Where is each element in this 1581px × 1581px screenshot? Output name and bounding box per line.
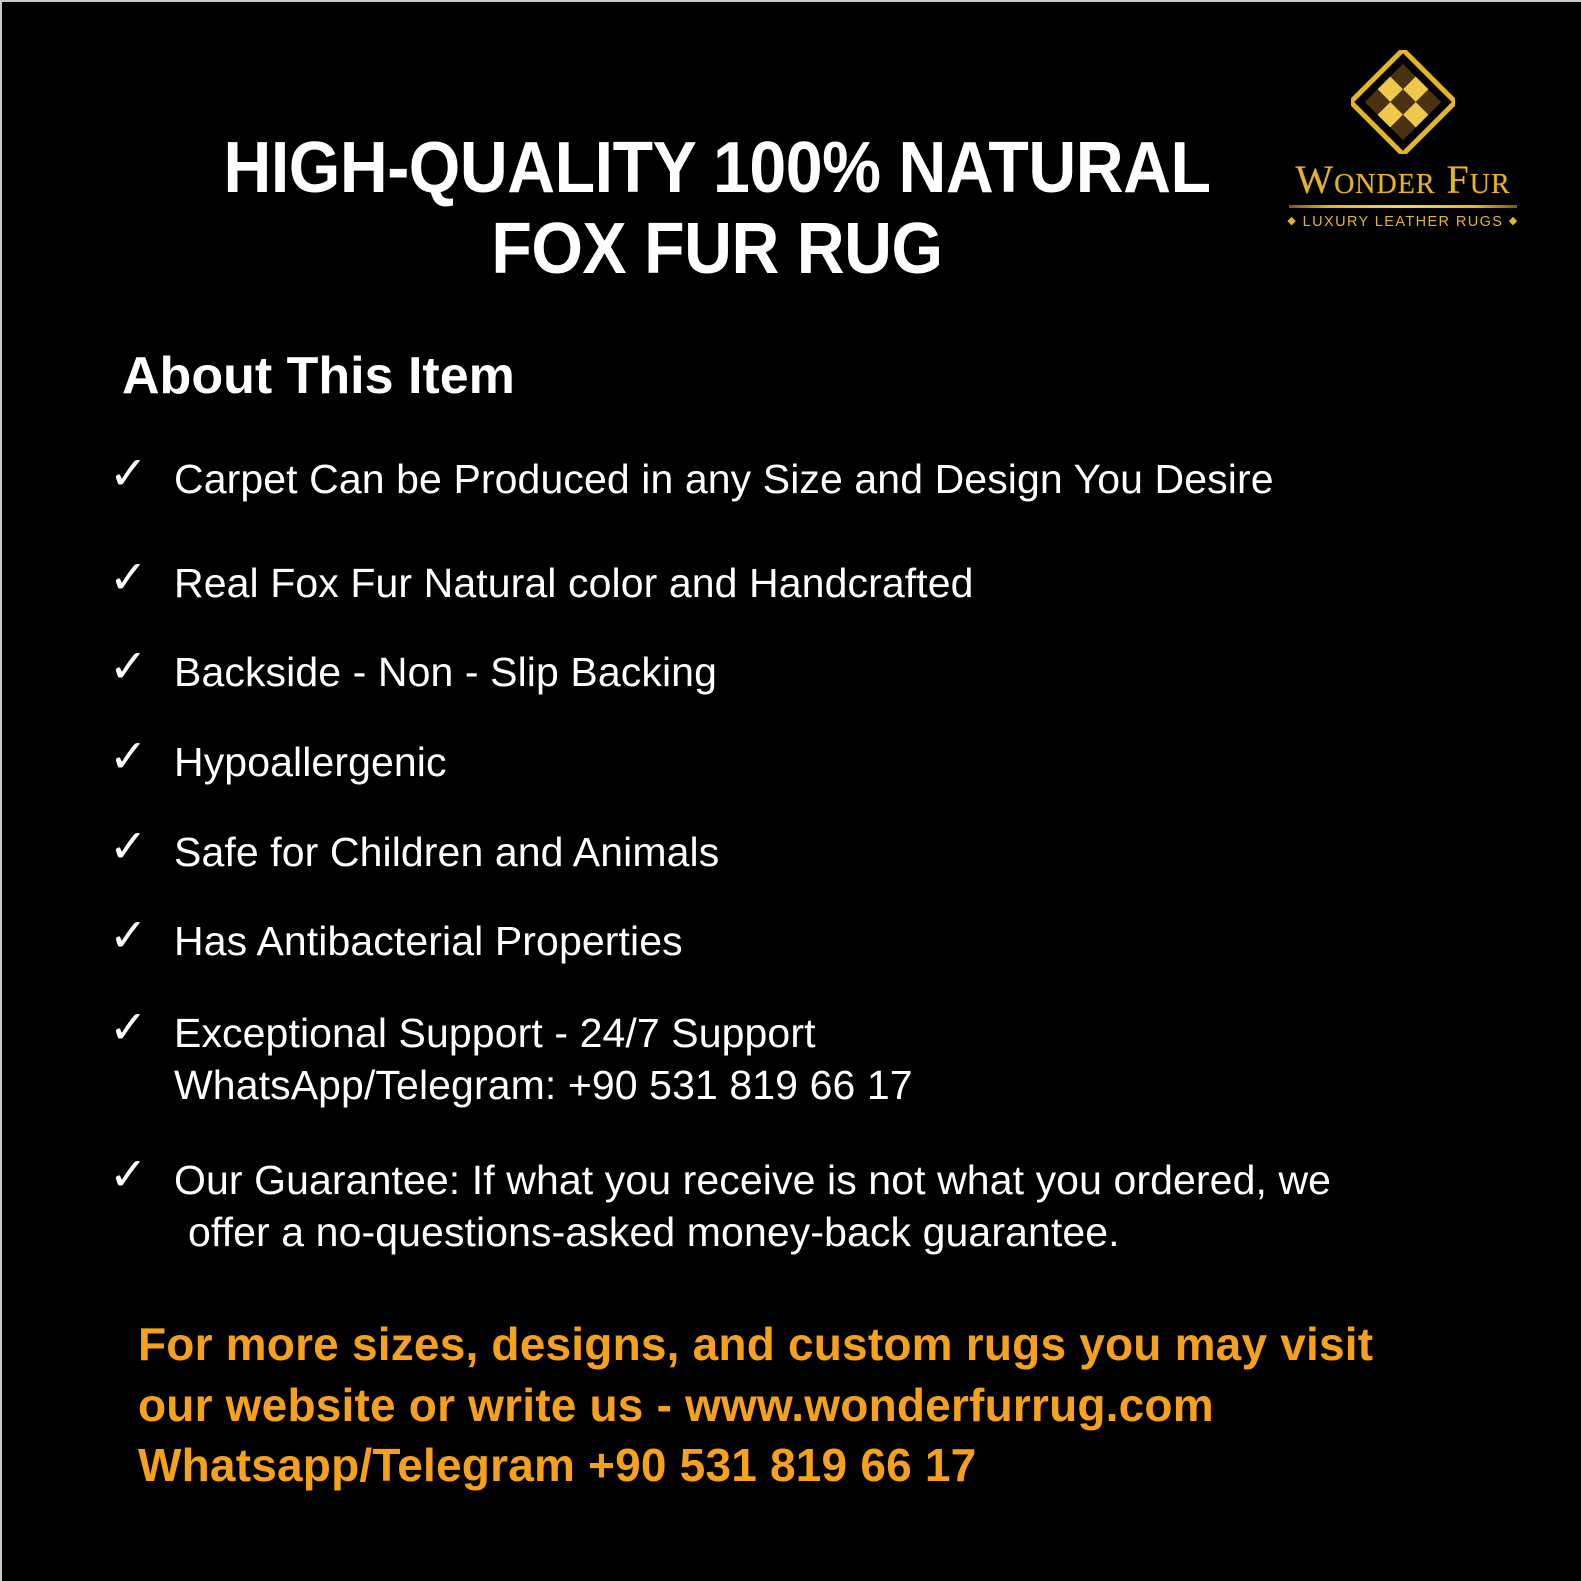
list-item-label-line-2: WhatsApp/Telegram: +90 531 819 66 17 xyxy=(174,1060,1506,1112)
check-icon: ✓ xyxy=(109,823,148,869)
footer-cta-line-1: For more sizes, designs, and custom rugs… xyxy=(138,1314,1518,1375)
list-item: ✓ Our Guarantee: If what you receive is … xyxy=(106,1155,1506,1258)
product-info-poster: Wonder Fur ◆ LUXURY LEATHER RUGS ◆ HIGH-… xyxy=(0,0,1581,1581)
list-item: ✓ Real Fox Fur Natural color and Handcra… xyxy=(106,558,1506,610)
list-item-label: Our Guarantee: If what you receive is no… xyxy=(174,1155,1506,1258)
list-item-label: Has Antibacterial Properties xyxy=(174,916,1506,968)
page-title-line-1: HIGH-QUALITY 100% NATURAL xyxy=(197,128,1237,209)
check-icon: ✓ xyxy=(109,643,148,689)
brand-logo: Wonder Fur ◆ LUXURY LEATHER RUGS ◆ xyxy=(1283,50,1523,230)
list-item: ✓ Safe for Children and Animals xyxy=(106,827,1506,879)
logo-tagline-text: LUXURY LEATHER RUGS xyxy=(1303,214,1504,230)
list-item-label: Real Fox Fur Natural color and Handcraft… xyxy=(174,558,1506,610)
logo-divider-rule xyxy=(1289,205,1517,208)
check-icon: ✓ xyxy=(109,1004,148,1050)
list-item: ✓ Hypoallergenic xyxy=(106,737,1506,789)
list-item: ✓ Exceptional Support - 24/7 Support Wha… xyxy=(106,1008,1506,1111)
diamond-ornament-left-icon: ◆ xyxy=(1287,215,1297,227)
check-icon: ✓ xyxy=(109,733,148,779)
check-icon: ✓ xyxy=(109,450,148,496)
list-item-label: Carpet Can be Produced in any Size and D… xyxy=(174,454,1506,506)
logo-tagline: ◆ LUXURY LEATHER RUGS ◆ xyxy=(1283,214,1523,230)
section-heading-about-this-item: About This Item xyxy=(122,346,515,406)
feature-list: ✓ Carpet Can be Produced in any Size and… xyxy=(106,454,1506,1259)
list-item-label: Safe for Children and Animals xyxy=(174,827,1506,879)
footer-cta-line-2: our website or write us - www.wonderfurr… xyxy=(138,1375,1518,1436)
page-title: HIGH-QUALITY 100% NATURAL FOX FUR RUG xyxy=(197,128,1237,289)
list-item: ✓ Carpet Can be Produced in any Size and… xyxy=(106,454,1506,506)
list-item-label: Exceptional Support - 24/7 Support Whats… xyxy=(174,1008,1506,1111)
list-item: ✓ Backside - Non - Slip Backing xyxy=(106,647,1506,699)
diamond-ornament-right-icon: ◆ xyxy=(1509,215,1519,227)
list-item: ✓ Has Antibacterial Properties xyxy=(106,916,1506,968)
footer-call-to-action: For more sizes, designs, and custom rugs… xyxy=(138,1314,1518,1496)
logo-wordmark: Wonder Fur xyxy=(1283,160,1523,200)
list-item-label-line-2: offer a no-questions-asked money-back gu… xyxy=(174,1207,1506,1259)
check-icon: ✓ xyxy=(109,912,148,958)
diamond-checkerboard-logo-mark xyxy=(1351,50,1455,154)
page-title-line-2: FOX FUR RUG xyxy=(197,209,1237,290)
list-item-label-line-1: Our Guarantee: If what you receive is no… xyxy=(174,1155,1506,1207)
footer-cta-line-3: Whatsapp/Telegram +90 531 819 66 17 xyxy=(138,1435,1518,1496)
list-item-label-line-1: Exceptional Support - 24/7 Support xyxy=(174,1008,1506,1060)
list-item-label: Hypoallergenic xyxy=(174,737,1506,789)
check-icon: ✓ xyxy=(109,1151,148,1197)
list-item-label: Backside - Non - Slip Backing xyxy=(174,647,1506,699)
check-icon: ✓ xyxy=(109,554,148,600)
